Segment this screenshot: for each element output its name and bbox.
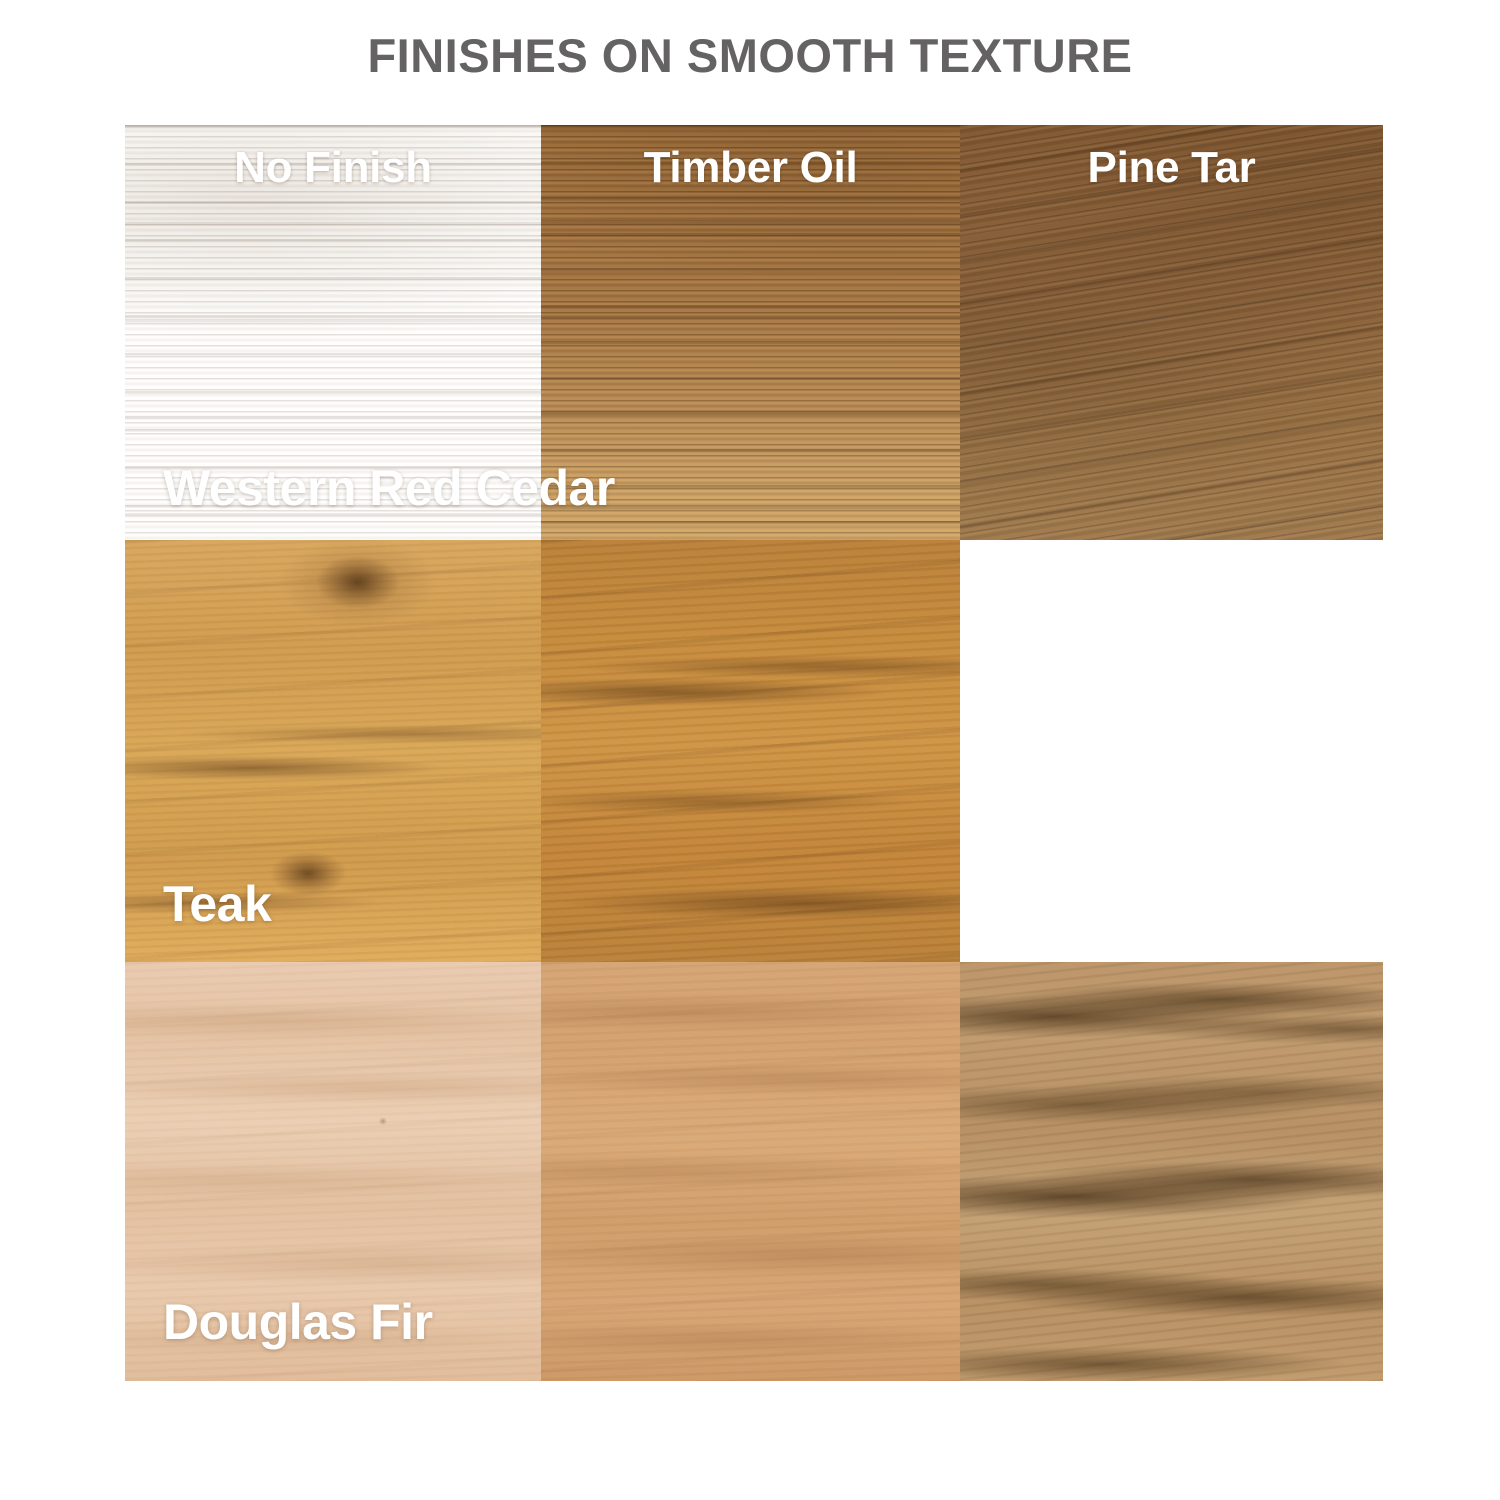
swatch-douglas-fir-pine-tar[interactable] [960, 962, 1383, 1381]
swatch-teak-timber-oil[interactable] [541, 540, 960, 962]
wood-grain-texture [960, 962, 1383, 1381]
column-label-no-finish: No Finish [125, 143, 541, 193]
wood-grain-texture [541, 962, 960, 1381]
swatch-douglas-fir-timber-oil[interactable] [541, 962, 960, 1381]
wood-grain-texture [541, 540, 960, 962]
row-label-teak: Teak [163, 875, 271, 933]
column-label-timber-oil: Timber Oil [541, 143, 960, 193]
page-title: FINISHES ON SMOOTH TEXTURE [0, 28, 1500, 83]
swatch-grid: No Finish Timber Oil Pine Tar Western Re… [125, 125, 1383, 1381]
row-label-western-red-cedar: Western Red Cedar [163, 459, 615, 517]
row-label-douglas-fir: Douglas Fir [163, 1293, 433, 1351]
column-label-pine-tar: Pine Tar [960, 143, 1383, 193]
